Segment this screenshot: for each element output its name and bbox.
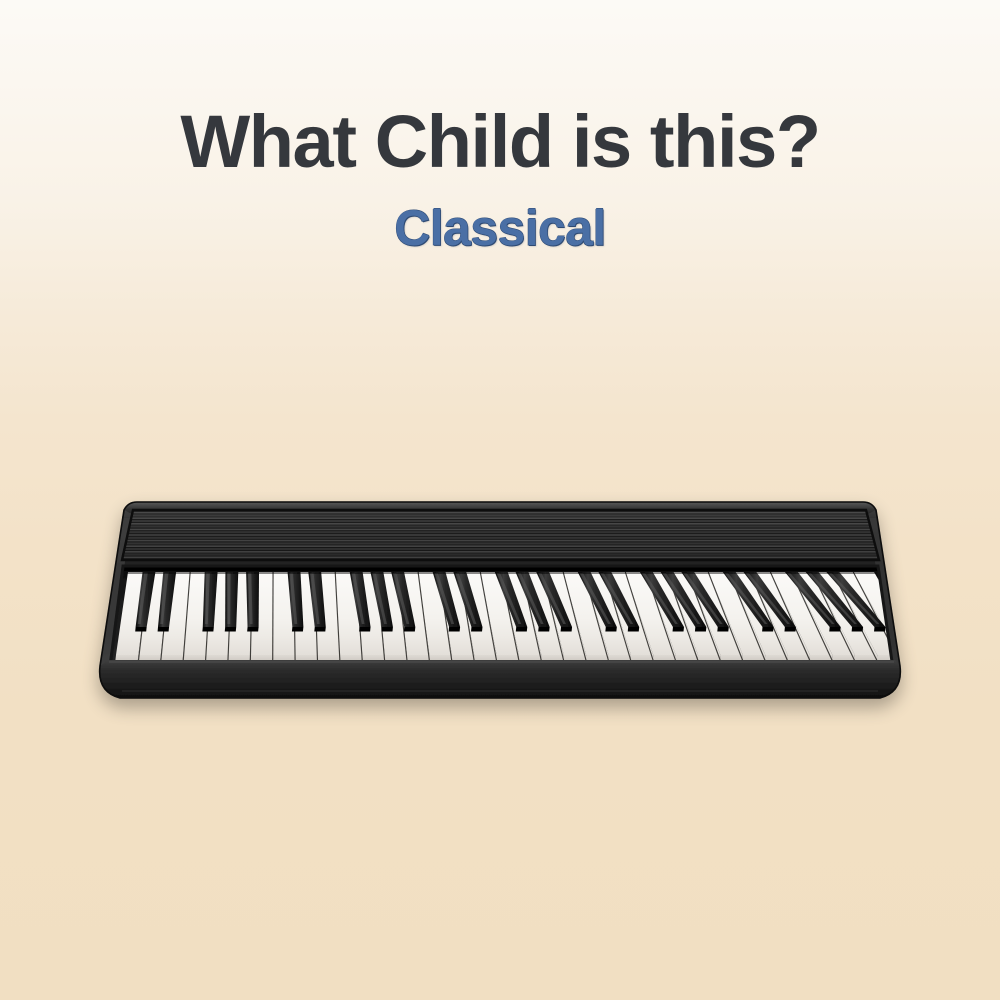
genre-subtitle: Classical <box>0 203 1000 253</box>
keys-group <box>115 566 922 661</box>
page-title: What Child is this? <box>0 104 1000 179</box>
poster-canvas: What Child is this? Classical <box>0 0 1000 1000</box>
keyboard-illustration <box>0 470 1000 770</box>
title-block: What Child is this? Classical <box>0 0 1000 253</box>
piano-keyboard-icon <box>0 470 1000 770</box>
